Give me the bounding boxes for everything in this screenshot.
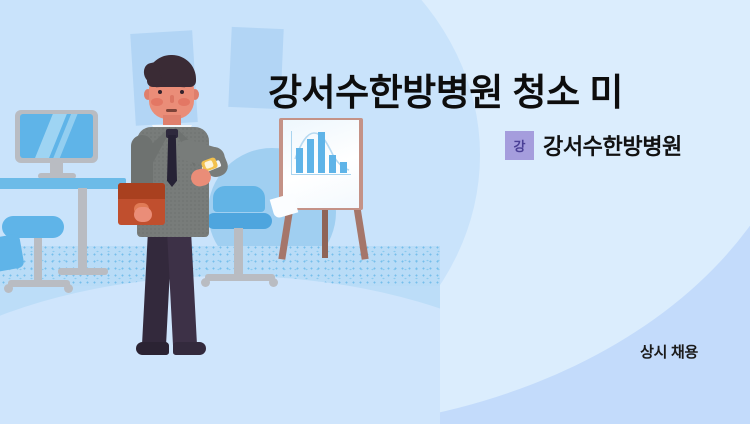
mouth [166,109,177,112]
eyebrow-left [155,84,166,88]
desk-icon [0,178,126,189]
businessman-figure [118,55,268,365]
desk-leg [78,188,87,270]
hiring-type-label: 상시 채용 [640,341,698,362]
eye-left [158,90,162,94]
page-title: 강서수한방병원 청소 미 [268,70,750,115]
chair-left-wheel [64,284,73,293]
shoe-right [173,342,206,355]
job-posting-banner: 강서수한방병원 청소 미 강 강서수한방병원 상시 채용 [0,0,750,424]
necktie [167,135,177,187]
hand-left [134,207,152,222]
bar-chart-icon [291,131,351,175]
chair-left-wheel [4,284,13,293]
shoe-left [136,342,169,355]
chair-back-wheel [269,278,278,287]
company-name[interactable]: 강서수한방병원 [543,129,682,161]
company-logo-badge: 강 [505,131,534,160]
eyebrow-right [175,84,186,88]
cheek-right [178,98,190,106]
nose [170,95,174,103]
chart-bar [340,162,347,173]
chart-bar [318,132,325,173]
cheek-left [151,98,163,106]
chart-bar [307,139,314,173]
monitor-screen [20,114,93,158]
desk-foot [58,268,108,275]
chart-bar [296,148,303,173]
chair-left-back [0,233,25,272]
briefcase-flap [118,183,165,199]
eye-right [180,90,184,94]
chair-left-legs [8,280,70,287]
company-row[interactable]: 강 강서수한방병원 [505,129,682,161]
chart-bar [329,155,336,173]
office-illustration [0,0,440,424]
leg-right [167,228,197,347]
chair-left-post [34,236,42,282]
